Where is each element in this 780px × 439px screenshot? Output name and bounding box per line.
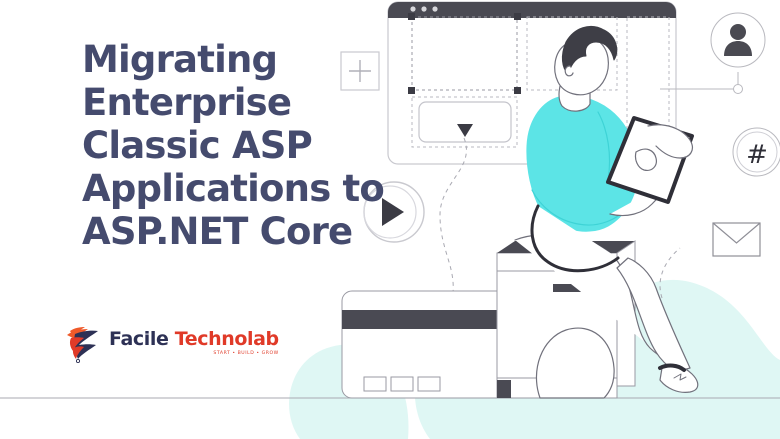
box-mockup [497, 241, 635, 398]
headline-line-2: Enterprise [82, 81, 412, 124]
dashed-curve-leg [660, 248, 680, 298]
tablet-device [608, 118, 692, 202]
logo-word-technolab: Technolab [175, 328, 279, 350]
avatar-connector [660, 72, 743, 94]
svg-text:#: # [746, 140, 768, 170]
hashtag-icon: # [733, 128, 780, 176]
facile-technolab-bird-f-mark [58, 322, 102, 364]
person-icon [711, 13, 765, 67]
cursor-triangle-icon [457, 124, 473, 137]
selection-handle-br [514, 87, 521, 94]
logo-tagline: START • BUILD • GROW [213, 352, 278, 357]
logo-text: Facile Technolab START • BUILD • GROW [109, 330, 279, 357]
card-chip-3 [418, 377, 440, 391]
card-chip-1 [364, 377, 386, 391]
headline-line-4: Applications to [82, 167, 412, 210]
selection-handle-tr [514, 13, 521, 20]
person-illustration [515, 26, 698, 398]
envelope-icon [713, 223, 760, 256]
dashed-curve-connector [440, 138, 466, 300]
dashed-region-3 [627, 17, 669, 151]
selection-handle-tl [408, 13, 415, 20]
blog-banner: # Migrating Enterprise Classic ASP Appli… [0, 0, 780, 439]
window-mockup [388, 2, 676, 164]
headline-line-1: Migrating [82, 38, 412, 81]
headline-line-5: ASP.NET Core [82, 210, 412, 253]
logo-word-facile: Facile [109, 328, 168, 350]
mint-background-blob [289, 280, 780, 439]
box-label [553, 284, 591, 292]
dashed-region-selected [412, 17, 517, 90]
dashed-region-4 [412, 97, 517, 147]
headline-line-3: Classic ASP [82, 124, 412, 167]
card-chip-2 [391, 377, 413, 391]
page-title: Migrating Enterprise Classic ASP Applica… [82, 38, 412, 253]
logo-wordmark: Facile Technolab [109, 330, 279, 349]
brand-logo[interactable]: Facile Technolab START • BUILD • GROW [58, 322, 279, 364]
card-magnetic-stripe [342, 310, 502, 329]
window-dot-2 [421, 6, 426, 11]
card-mockup [342, 291, 502, 398]
window-dot-3 [432, 6, 437, 11]
dashed-region-2 [527, 17, 617, 90]
window-dot-1 [410, 6, 415, 11]
mock-button [419, 102, 511, 142]
box-edge-shadow [497, 380, 511, 398]
